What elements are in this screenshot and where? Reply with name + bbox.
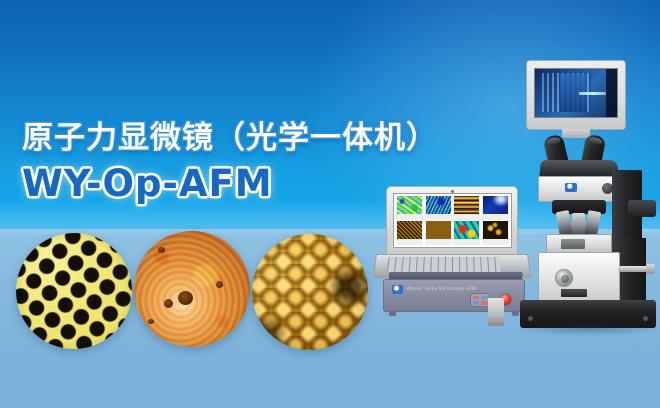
indicator-led xyxy=(473,296,480,300)
stage-nameplate xyxy=(561,289,587,297)
sample-circle-porous-membrane xyxy=(16,233,132,349)
eyepiece-lens xyxy=(588,136,603,146)
focus-knob[interactable] xyxy=(555,269,573,287)
sample-image-group xyxy=(16,231,376,351)
sample-circle-granular-surface xyxy=(252,234,368,350)
scan-thumbnail-label xyxy=(396,239,423,245)
scan-thumbnail xyxy=(396,196,423,220)
base-mount-screw xyxy=(528,316,533,321)
rod-end-cap xyxy=(646,264,655,274)
base-mount-screw xyxy=(643,316,648,321)
microscope-head-body xyxy=(538,176,620,202)
scan-thumbnail xyxy=(453,196,480,220)
indicator-led xyxy=(481,301,488,305)
laptop-keyboard xyxy=(387,257,501,272)
controller-indicator-grid xyxy=(470,293,490,307)
scan-thumbnail-image xyxy=(454,196,479,214)
lcd-monitor xyxy=(526,60,626,130)
product-banner: 原子力显微镜（光学一体机） WY-Op-AFM xyxy=(0,0,660,408)
laptop-lid xyxy=(386,186,518,256)
scan-thumbnail-label xyxy=(425,239,452,245)
brand-logo-icon xyxy=(565,183,577,192)
indicator-led xyxy=(481,296,488,300)
scan-thumbnail-label xyxy=(425,214,452,220)
scan-thumbnail xyxy=(396,221,423,245)
monitor-dark-edge xyxy=(606,69,617,117)
controller-foot xyxy=(389,312,396,316)
sample-circle-cell-topography xyxy=(134,231,250,347)
scan-thumbnail-image xyxy=(426,196,451,214)
eyepiece-lens xyxy=(546,136,561,146)
sample-1-vignette xyxy=(16,233,132,349)
camera-port xyxy=(628,200,656,217)
scan-thumbnail-label xyxy=(453,214,480,220)
auxiliary-module xyxy=(488,298,504,326)
scan-thumbnail xyxy=(425,221,452,245)
controller-brand-text: Atomic Force Microscope AFM xyxy=(407,286,476,291)
monitor-bezel-bottom xyxy=(527,120,625,128)
scan-thumbnail-image xyxy=(397,196,422,214)
stage-translation-rod[interactable] xyxy=(618,266,652,272)
brand-logo-icon xyxy=(392,285,403,294)
afm-microscope xyxy=(500,52,660,336)
scan-thumbnail-image xyxy=(454,221,479,239)
scan-thumbnail-label xyxy=(396,214,423,220)
scan-thumbnail-image xyxy=(397,221,422,239)
scan-thumbnail xyxy=(453,221,480,245)
scan-thumbnail-image xyxy=(426,221,451,239)
page-title: 原子力显微镜（光学一体机） xyxy=(22,118,442,158)
sample-2-vignette xyxy=(134,231,250,347)
laptop-screen xyxy=(393,193,512,248)
indicator-led xyxy=(473,301,480,305)
afm-head-window xyxy=(561,239,585,249)
scan-thumbnail xyxy=(425,196,452,220)
cantilever-probe-icon xyxy=(579,92,605,95)
monitor-screen xyxy=(534,68,618,118)
base-shadow xyxy=(516,324,660,336)
sample-stage xyxy=(538,252,620,302)
scan-thumbnail-label xyxy=(453,239,480,245)
sample-3-vignette xyxy=(252,234,368,350)
